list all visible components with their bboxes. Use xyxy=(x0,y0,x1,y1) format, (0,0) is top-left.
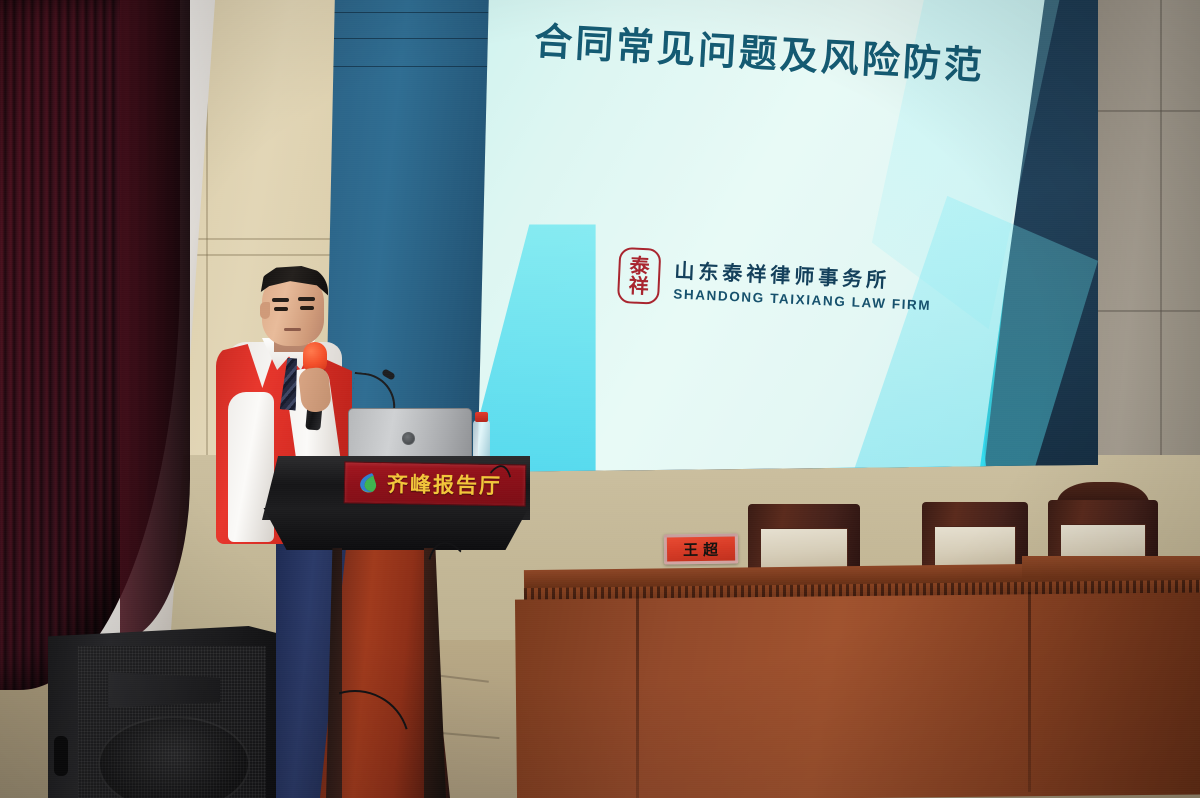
swoosh-logo-icon xyxy=(354,470,380,496)
pa-loudspeaker-horn xyxy=(108,672,220,708)
wall-seam xyxy=(1096,110,1200,112)
chair-middle xyxy=(922,502,1028,572)
firm-name-group: 山东泰祥律师事务所 SHANDONG TAIXIANG LAW FIRM xyxy=(673,254,933,313)
presenter-eyebrow xyxy=(272,298,289,302)
presenter-eye xyxy=(300,306,314,310)
firm-seal-icon: 泰 祥 xyxy=(617,247,661,305)
table-panel-seam xyxy=(1028,592,1031,792)
wall-seam xyxy=(1096,310,1200,312)
water-bottle-cap xyxy=(475,412,488,422)
pa-loudspeaker-handle xyxy=(54,736,68,776)
presenter-hand xyxy=(298,367,332,414)
laptop-brand-logo-icon xyxy=(402,432,415,445)
presenter-eyebrow xyxy=(298,297,315,301)
presenter-ear xyxy=(260,302,270,319)
presenter-eye xyxy=(274,307,288,311)
curtain-fold-edge xyxy=(120,0,190,640)
name-placard-text: 王超 xyxy=(679,538,723,560)
name-placard: 王超 xyxy=(664,533,738,564)
seal-char-bottom: 祥 xyxy=(628,276,649,296)
presentation-photo-scene: 合同常见问题及风险防范 泰 祥 山东泰祥律师事务所 SHANDONG TAIXI… xyxy=(0,0,1200,798)
chair-left xyxy=(748,504,860,574)
conference-table-top-right xyxy=(1022,556,1200,578)
projection-screen: 合同常见问题及风险防范 泰 祥 山东泰祥律师事务所 SHANDONG TAIXI… xyxy=(470,0,1098,472)
presenter-mouth xyxy=(284,328,301,331)
table-panel-seam xyxy=(636,598,639,798)
conference-table-front-panel xyxy=(515,592,1200,798)
